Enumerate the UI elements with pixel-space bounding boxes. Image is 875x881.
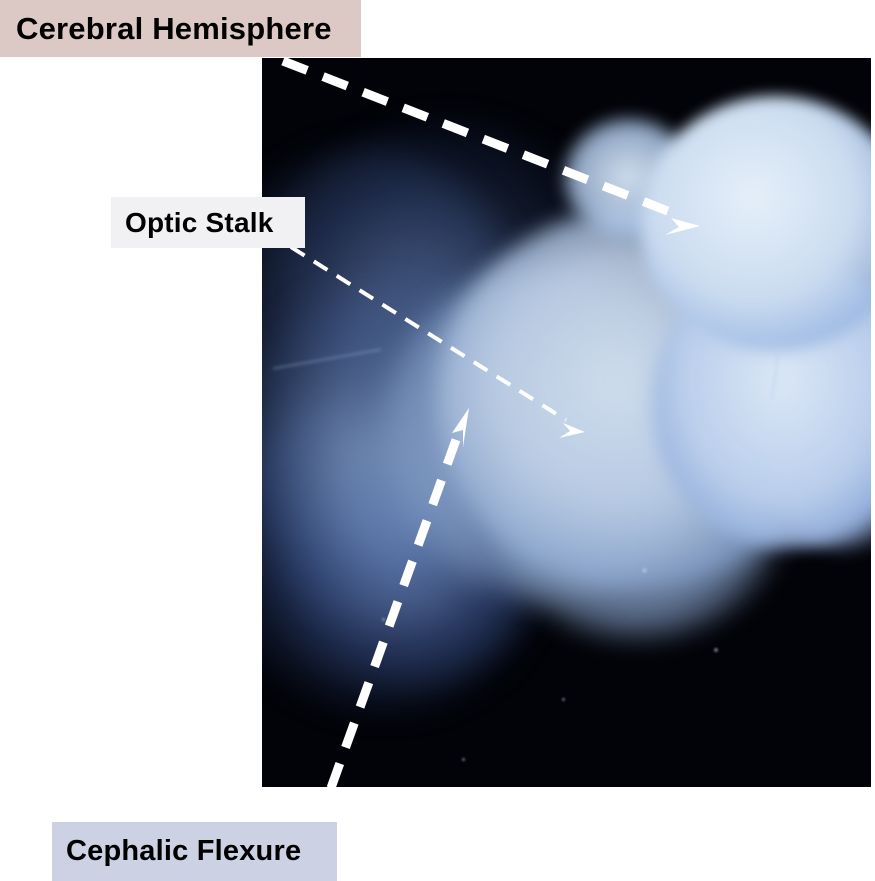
cerebral-hemisphere-lobe (640, 96, 871, 351)
embryonic-brain-photo (262, 58, 871, 787)
label-cerebral-hemisphere: Cerebral Hemisphere (0, 0, 361, 57)
tissue-haze-mid-left (262, 288, 512, 618)
tissue-filament (273, 348, 382, 369)
small-bump-lobe (564, 118, 694, 238)
label-cerebral-hemisphere-text: Cerebral Hemisphere (16, 11, 332, 47)
label-cephalic-flexure-text: Cephalic Flexure (66, 835, 301, 868)
cephalic-flexure-mass (262, 388, 542, 708)
label-optic-stalk: Optic Stalk (111, 197, 305, 248)
tissue-haze-upper-left (282, 118, 612, 418)
speck (714, 648, 718, 652)
speck (642, 568, 647, 573)
right-lobe (752, 288, 871, 548)
cephalic-flexure-mass-inner (282, 448, 532, 678)
tissue-filament (771, 353, 779, 399)
lower-right-lobe (652, 258, 871, 548)
speck (562, 698, 565, 701)
lower-mid-bulge (492, 388, 782, 638)
label-cephalic-flexure: Cephalic Flexure (52, 822, 337, 881)
label-optic-stalk-text: Optic Stalk (125, 207, 273, 239)
annotated-micrograph-figure: Cerebral Hemisphere Optic Stalk Cephalic… (0, 0, 875, 881)
midbrain-mass (437, 208, 837, 588)
speck (807, 488, 811, 492)
speck (382, 618, 385, 621)
speck (462, 758, 465, 761)
midbrain-mass-outer (382, 268, 712, 598)
